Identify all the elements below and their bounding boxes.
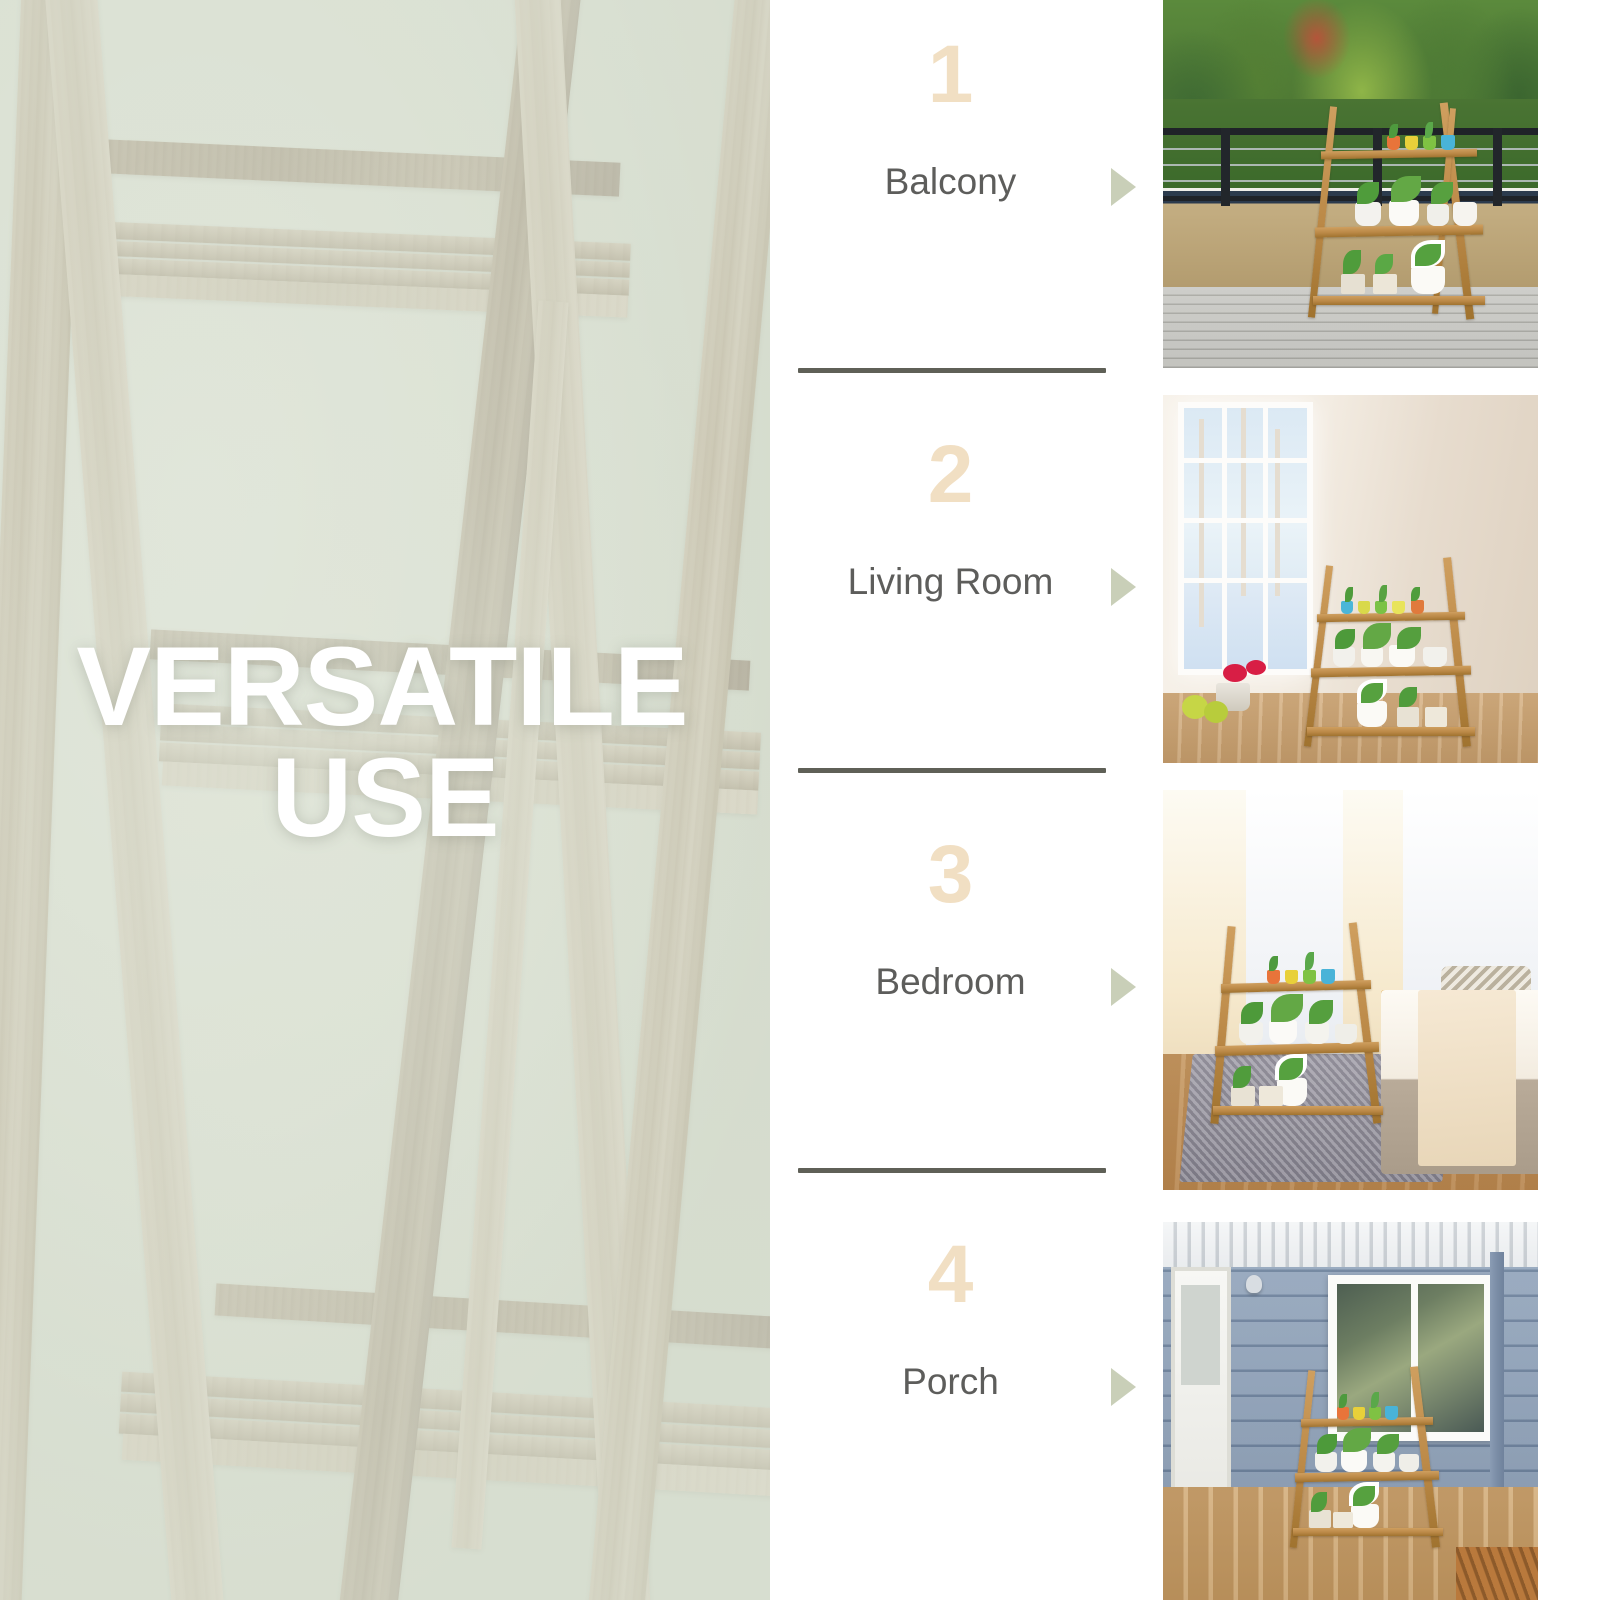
bedroom-photo xyxy=(1163,790,1538,1190)
hero-panel: VERSATILE USE xyxy=(0,0,770,1600)
page-title-line-1: VERSATILE xyxy=(0,632,770,743)
balcony-photo xyxy=(1163,0,1538,368)
step-list: 1 Balcony 2 Living Room 3 Bedroom 4 Porc… xyxy=(770,0,1163,1600)
step-number: 1 xyxy=(770,34,1131,116)
page-title-line-2: USE xyxy=(0,743,770,854)
triangle-right-icon xyxy=(1111,1368,1136,1406)
step-label-living-room: Living Room xyxy=(770,560,1131,604)
infographic-board: VERSATILE USE 1 Balcony 2 Living Room 3 … xyxy=(0,0,1600,1600)
step-label-bedroom: Bedroom xyxy=(770,960,1131,1004)
step-number: 4 xyxy=(770,1234,1131,1316)
triangle-right-icon xyxy=(1111,968,1136,1006)
triangle-right-icon xyxy=(1111,168,1136,206)
porch-photo xyxy=(1163,1222,1538,1600)
step-label-porch: Porch xyxy=(770,1360,1131,1404)
step-item-bedroom[interactable]: 3 Bedroom xyxy=(770,800,1163,1200)
step-label-balcony: Balcony xyxy=(770,160,1131,204)
step-item-living-room[interactable]: 2 Living Room xyxy=(770,400,1163,800)
step-item-porch[interactable]: 4 Porch xyxy=(770,1200,1163,1600)
step-divider xyxy=(798,768,1106,773)
step-divider xyxy=(798,1168,1106,1173)
triangle-right-icon xyxy=(1111,568,1136,606)
step-item-balcony[interactable]: 1 Balcony xyxy=(770,0,1163,400)
living-room-photo xyxy=(1163,395,1538,763)
step-number: 3 xyxy=(770,834,1131,916)
step-number: 2 xyxy=(770,434,1131,516)
page-title: VERSATILE USE xyxy=(0,632,770,854)
photo-gallery xyxy=(1163,0,1600,1600)
step-divider xyxy=(798,368,1106,373)
